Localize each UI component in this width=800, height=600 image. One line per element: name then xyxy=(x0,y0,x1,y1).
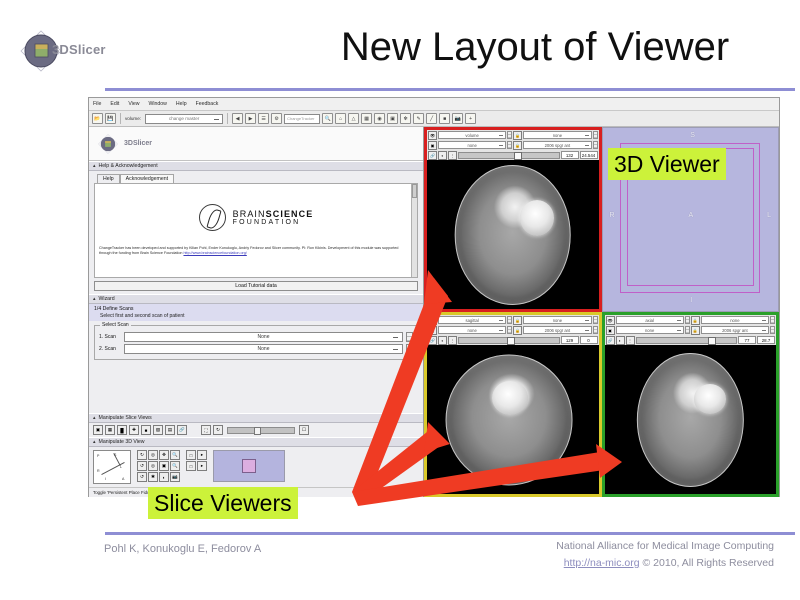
wizard-step-description: Select first and second scan of patient xyxy=(89,313,423,321)
menu-item-file[interactable]: File xyxy=(93,101,101,107)
green-axial-image[interactable] xyxy=(605,345,777,494)
green-control-row-2: ▣ none 🔒 2006 spgr ant xyxy=(605,325,777,335)
yellow-orientation-icon[interactable]: ⋮ xyxy=(448,336,457,345)
yellow-slice-slider[interactable] xyxy=(458,337,560,344)
compass-label-r: R xyxy=(97,469,100,473)
ruler-icon[interactable]: 🔍 xyxy=(170,461,180,471)
link-views-icon[interactable]: 🔗 xyxy=(177,425,187,435)
green-label-stepper-2[interactable] xyxy=(770,326,775,334)
layout-preview-thumbnail[interactable] xyxy=(213,450,285,482)
red-label-stepper-2[interactable] xyxy=(593,141,598,149)
brain-sagittal xyxy=(446,354,573,485)
scrollbar-thumb[interactable] xyxy=(412,184,417,198)
yellow-layer-lock2-icon[interactable]: 🔒 xyxy=(513,326,522,335)
slicer-small-logo-icon xyxy=(97,133,119,155)
tab-acknowledgement[interactable]: Acknowledgement xyxy=(120,174,174,183)
red-slice-index[interactable]: 132 xyxy=(561,151,579,159)
brain-coronal xyxy=(454,164,571,304)
footer-copyright: © 2010, All Rights Reserved xyxy=(643,557,774,569)
yellow-slider-knob[interactable] xyxy=(507,337,515,345)
green-background-select[interactable]: none xyxy=(616,326,684,334)
menu-item-help[interactable]: Help xyxy=(176,101,187,107)
main-toolbar: 📂 💾 volume: change master ◀ ▶ ☰ ⚙ Change… xyxy=(89,111,779,127)
yellow-label-stepper-1[interactable] xyxy=(593,316,598,324)
green-eye-icon[interactable]: ◐ xyxy=(616,336,625,345)
red-background-icon[interactable]: ▣ xyxy=(428,141,437,150)
models-module-icon[interactable]: ◉ xyxy=(374,113,385,124)
yellow-slice-index[interactable]: 129 xyxy=(561,336,579,344)
help-tabs: Help Acknowledgement xyxy=(89,171,423,183)
title-divider xyxy=(105,88,795,91)
toolbar-separator xyxy=(227,113,228,124)
yellow-bg-stepper[interactable] xyxy=(507,326,512,334)
yellow-control-row-1: 👁 sagittal 🔒 none xyxy=(427,315,599,325)
green-label-stepper-1[interactable] xyxy=(770,316,775,324)
bsf-subtitle: FOUNDATION xyxy=(233,219,314,226)
scan-1-label: 1. Scan xyxy=(99,334,121,340)
red-label-select-1[interactable]: none xyxy=(523,131,591,139)
next-module-icon[interactable]: ▶ xyxy=(245,113,256,124)
green-slice-viewer[interactable]: 👁 axial 🔒 none ▣ none 🔒 2006 xyxy=(602,312,780,497)
compare-layout-icon[interactable]: ▤ xyxy=(165,425,175,435)
manipulate-3d-view-header[interactable]: ▴ Manipulate 3D View xyxy=(89,437,423,447)
transforms-module-icon[interactable]: ▣ xyxy=(387,113,398,124)
label-visible-icon[interactable]: █ xyxy=(117,425,127,435)
manipulate-slice-views-title: Manipulate Slice Views xyxy=(99,415,152,421)
foreground-icon[interactable]: ■ xyxy=(141,425,151,435)
editor-module-icon[interactable]: ✎ xyxy=(413,113,424,124)
red-slider-knob[interactable] xyxy=(514,152,522,160)
bsf-name: BRAINSCIENCE xyxy=(233,209,314,219)
slider-knob[interactable] xyxy=(254,427,261,435)
red-background-select[interactable]: none xyxy=(438,141,506,149)
pick-icon[interactable]: 🔍 xyxy=(170,450,180,460)
green-background-icon[interactable]: ▣ xyxy=(606,326,615,335)
select-scan-legend: Select Scan xyxy=(100,322,131,328)
green-slider-knob[interactable] xyxy=(708,337,716,345)
red-layer-lock2-icon[interactable]: 🔒 xyxy=(513,141,522,150)
yellow-control-row-3: 🔗 ◐ ⋮ 129 0 xyxy=(427,335,599,345)
compass-label-i: I xyxy=(105,477,106,481)
volume-label: volume: xyxy=(125,116,141,121)
green-orientation-icon[interactable]: ⋮ xyxy=(626,336,635,345)
zoom-icon[interactable]: ◎ xyxy=(148,450,158,460)
red-label-stepper-1[interactable] xyxy=(593,131,598,139)
center-icon[interactable]: ◎ xyxy=(148,461,158,471)
green-layer-lock2-icon[interactable]: 🔒 xyxy=(691,326,700,335)
module-list-icon[interactable]: ☰ xyxy=(258,113,269,124)
menu-item-edit[interactable]: Edit xyxy=(110,101,119,107)
red-visibility-icon[interactable]: 👁 xyxy=(428,131,437,140)
green-control-row-3: 🔗 ◐ ⋮ 77 28.7 xyxy=(605,335,777,345)
wizard-section-title: Wizard xyxy=(99,296,115,302)
orientation-label-inferior: I xyxy=(690,297,692,304)
manipulate-3d-view-title: Manipulate 3D View xyxy=(99,439,145,445)
scan-1-stepper[interactable] xyxy=(406,332,413,342)
home-module-icon[interactable]: ⌂ xyxy=(335,113,346,124)
yellow-background-select[interactable]: none xyxy=(438,326,506,334)
yellow-control-row-2: ▣ none 🔒 2006 spgr ant xyxy=(427,325,599,335)
pan-icon[interactable]: ✥ xyxy=(159,450,169,460)
scan-2-select[interactable]: None xyxy=(124,344,403,354)
stereo-icon[interactable]: ◐ xyxy=(159,472,169,482)
find-module-icon[interactable]: 🔍 xyxy=(322,113,333,124)
slice-view-toolbar: ▣ ▦ █ ✚ ■ ▧ ▤ 🔗 ⛶ ↻ ☐ xyxy=(89,423,423,437)
fiducials-module-icon[interactable]: ✻ xyxy=(400,113,411,124)
save-scene-icon[interactable]: 💾 xyxy=(105,113,116,124)
red-layer-lock-icon[interactable]: 🔒 xyxy=(513,131,522,140)
tumor-region xyxy=(694,384,727,414)
viewer-row-top: 👁 volume 🔒 none ▣ none 🔒 200 xyxy=(424,127,779,312)
brain-science-foundation-logo: BRAINSCIENCE FOUNDATION xyxy=(95,184,417,231)
footer-url[interactable]: http://na-mic.org xyxy=(564,557,640,569)
scan-2-label: 2. Scan xyxy=(99,346,121,352)
scan-2-stepper[interactable] xyxy=(406,344,413,354)
extension-icon[interactable]: + xyxy=(465,113,476,124)
prev-module-icon[interactable]: ◀ xyxy=(232,113,243,124)
load-scene-icon[interactable]: 📂 xyxy=(92,113,103,124)
green-link-icon[interactable]: 🔗 xyxy=(606,336,615,345)
orientation-label-left: L xyxy=(767,212,771,219)
scan-row: 2. Scan None xyxy=(99,344,413,354)
green-bg-stepper[interactable] xyxy=(685,326,690,334)
red-foreground-select[interactable]: volume xyxy=(438,131,506,139)
brain-axial xyxy=(637,352,743,486)
module-settings-icon[interactable]: ⚙ xyxy=(271,113,282,124)
viewer-area: 👁 volume 🔒 none ▣ none 🔒 200 xyxy=(424,127,779,497)
green-slice-index[interactable]: 77 xyxy=(738,336,756,344)
yellow-foreground-select[interactable]: sagittal xyxy=(438,316,506,324)
orientation-compass[interactable]: P S R L I A xyxy=(93,450,131,484)
tab-help[interactable]: Help xyxy=(97,174,120,183)
collapse-caret-icon[interactable]: ▴ xyxy=(93,439,96,445)
acknowledgement-panel: BRAINSCIENCE FOUNDATION ChangeTracker ha… xyxy=(94,183,418,278)
yellow-fg-stepper[interactable] xyxy=(507,316,512,324)
compass-label-s: S xyxy=(114,453,116,457)
data-module-icon[interactable]: △ xyxy=(348,113,359,124)
measurements-module-icon[interactable]: ╱ xyxy=(426,113,437,124)
menu-item-window[interactable]: Window xyxy=(148,101,166,107)
footer-authors: Pohl K, Konukoglu E, Fedorov A xyxy=(104,543,261,555)
compass-label-l: L xyxy=(120,465,122,469)
yellow-link-icon[interactable]: 🔗 xyxy=(428,336,437,345)
wizard-section-header[interactable]: ▴ Wizard xyxy=(89,294,423,304)
collapse-caret-icon[interactable]: ▴ xyxy=(93,163,96,169)
yellow-visibility-icon[interactable]: 👁 xyxy=(428,316,437,325)
annotation-icon[interactable]: ☐ xyxy=(299,425,309,435)
green-control-row-1: 👁 axial 🔒 none xyxy=(605,315,777,325)
compass-label-a: A xyxy=(122,477,124,481)
tumor-region xyxy=(492,381,528,415)
bsf-link[interactable]: http://www.brainsciencefoundation.org/ xyxy=(183,251,246,255)
light-icon[interactable]: ✱ xyxy=(148,472,158,482)
red-slice-offset[interactable]: 24.544 xyxy=(580,151,598,159)
red-coronal-image[interactable] xyxy=(427,160,599,309)
help-section-header[interactable]: ▴ Help & Acknowledgement xyxy=(89,161,423,171)
red-slice-slider[interactable] xyxy=(458,152,560,159)
red-eye-icon[interactable]: ◐ xyxy=(438,151,447,160)
yellow-sagittal-image[interactable] xyxy=(427,345,599,494)
red-control-row-2: ▣ none 🔒 2006 spgr ant xyxy=(427,140,599,150)
select-icon[interactable]: ▸ xyxy=(197,450,207,460)
compass-label-p: P xyxy=(97,454,99,458)
annotation-slice-viewers: Slice Viewers xyxy=(148,487,298,519)
module-panel-brand: 3DSlicer xyxy=(89,127,423,161)
green-fg-stepper[interactable] xyxy=(685,316,690,324)
footer-organization: National Alliance for Medical Image Comp… xyxy=(556,538,774,555)
toolbar-separator xyxy=(120,113,121,124)
viewer-row-bottom: 👁 sagittal 🔒 none ▣ none 🔒 2 xyxy=(424,312,779,497)
label-map-icon[interactable]: ▧ xyxy=(153,425,163,435)
red-orientation-icon[interactable]: ⋮ xyxy=(448,151,457,160)
fg-bg-toggle-icon[interactable]: ▣ xyxy=(93,425,103,435)
module-panel: 3DSlicer ▴ Help & Acknowledgement Help A… xyxy=(89,127,424,497)
help-section-title: Help & Acknowledgement xyxy=(99,163,158,169)
yellow-eye-icon[interactable]: ◐ xyxy=(438,336,447,345)
slicer-logo-text: 3DSlicer xyxy=(52,42,106,57)
yellow-label-select-1[interactable]: none xyxy=(523,316,591,324)
yellow-label-stepper-2[interactable] xyxy=(593,326,598,334)
red-control-row-1: 👁 volume 🔒 none xyxy=(427,130,599,140)
camera-module-icon[interactable]: 📷 xyxy=(452,113,463,124)
tumor-region xyxy=(520,200,554,236)
yellow-layer-lock-icon[interactable]: 🔒 xyxy=(513,316,522,325)
module-search-input[interactable]: ChangeTracker xyxy=(284,114,320,124)
reset-icon[interactable]: ↺ xyxy=(137,461,147,471)
red-bg-stepper[interactable] xyxy=(507,141,512,149)
load-tutorial-button[interactable]: Load Tutorial data xyxy=(94,281,418,291)
spin-icon[interactable]: ↺ xyxy=(137,472,147,482)
yellow-slice-viewer[interactable]: 👁 sagittal 🔒 none ▣ none 🔒 2 xyxy=(424,312,602,497)
select-icon[interactable]: ▸ xyxy=(197,461,207,471)
screenshot-icon[interactable]: 📷 xyxy=(170,472,180,482)
volumes-module-icon[interactable]: ▦ xyxy=(361,113,372,124)
red-control-row-3: 🔗 ◐ ⋮ 132 24.544 xyxy=(427,150,599,160)
application-body: 3DSlicer ▴ Help & Acknowledgement Help A… xyxy=(89,127,779,497)
menu-item-view[interactable]: View xyxy=(128,101,139,107)
green-slice-slider[interactable] xyxy=(636,337,738,344)
menu-item-feedback[interactable]: Feedback xyxy=(196,101,219,107)
collapse-caret-icon[interactable]: ▴ xyxy=(93,296,96,302)
acknowledgement-scrollbar[interactable] xyxy=(411,184,417,277)
yellow-slice-controls: 👁 sagittal 🔒 none ▣ none 🔒 2 xyxy=(427,315,599,345)
red-slice-viewer[interactable]: 👁 volume 🔒 none ▣ none 🔒 200 xyxy=(424,127,602,312)
slice-opacity-slider[interactable] xyxy=(227,427,295,434)
axis-icon[interactable]: □ xyxy=(186,450,196,460)
red-link-icon[interactable]: 🔗 xyxy=(428,151,437,160)
crosshair-icon[interactable]: ✚ xyxy=(129,425,139,435)
view3d-extra-grid: □ ▸ □ ▸ xyxy=(186,450,207,471)
box-icon[interactable]: ▣ xyxy=(159,461,169,471)
green-foreground-select[interactable]: axial xyxy=(616,316,684,324)
layout-preview-square xyxy=(242,459,256,473)
green-label-select-1[interactable]: none xyxy=(701,316,769,324)
acknowledgement-text: ChangeTracker has been developed and sup… xyxy=(99,246,407,256)
green-label-select-2[interactable]: 2006 spgr ant xyxy=(701,326,769,334)
page-title: New Layout of Viewer xyxy=(300,22,770,72)
annotation-3d-viewer: 3D Viewer xyxy=(608,148,726,180)
orientation-label-superior: S xyxy=(690,132,695,139)
bsf-ring-icon xyxy=(199,204,226,231)
yellow-background-icon[interactable]: ▣ xyxy=(428,326,437,335)
view3d-controls: P S R L I A ↻ ◎ ✥ 🔍 ↺ ◎ ▣ 🔍 ↺ xyxy=(89,447,423,487)
green-layer-lock-icon[interactable]: 🔒 xyxy=(691,316,700,325)
rotate-to-volume-icon[interactable]: ↻ xyxy=(213,425,223,435)
slicer-logo: 3DSlicer xyxy=(18,28,138,74)
footer-divider xyxy=(105,532,795,535)
orientation-label-right: R xyxy=(610,212,615,219)
menu-bar: File Edit View Window Help Feedback xyxy=(89,98,779,111)
scan-1-select[interactable]: None xyxy=(124,332,403,342)
scan-row: 1. Scan None xyxy=(99,332,413,342)
collapse-caret-icon[interactable]: ▴ xyxy=(93,415,96,421)
green-slice-controls: 👁 axial 🔒 none ▣ none 🔒 2006 xyxy=(605,315,777,345)
wizard-step-title: 1/4 Define Scans xyxy=(89,304,423,313)
manipulate-slice-views-header[interactable]: ▴ Manipulate Slice Views xyxy=(89,413,423,423)
orientation-label-anterior: A xyxy=(688,212,693,219)
label-outline-icon[interactable]: ▦ xyxy=(105,425,115,435)
yellow-label-select-2[interactable]: 2006 spgr ant xyxy=(523,326,591,334)
module-panel-brand-text: 3DSlicer xyxy=(124,140,152,147)
view3d-button-grid: ↻ ◎ ✥ 🔍 ↺ ◎ ▣ 🔍 ↺ ✱ ◐ 📷 xyxy=(137,450,180,482)
colors-module-icon[interactable]: ■ xyxy=(439,113,450,124)
yellow-slice-offset[interactable]: 0 xyxy=(580,336,598,344)
green-visibility-icon[interactable]: 👁 xyxy=(606,316,615,325)
fit-to-window-icon[interactable]: ⛶ xyxy=(201,425,211,435)
rotate-icon[interactable]: ↻ xyxy=(137,450,147,460)
green-slice-offset[interactable]: 28.7 xyxy=(757,336,775,344)
red-slice-controls: 👁 volume 🔒 none ▣ none 🔒 200 xyxy=(427,130,599,160)
panel-spacer xyxy=(89,364,423,413)
footer-attribution: National Alliance for Medical Image Comp… xyxy=(556,538,774,572)
axis-icon[interactable]: □ xyxy=(186,461,196,471)
select-scan-group: Select Scan 1. Scan None 2. Scan None xyxy=(94,325,418,360)
red-label-select-2[interactable]: 2006 spgr ant xyxy=(523,141,591,149)
volume-select[interactable]: change master xyxy=(145,114,223,124)
red-fg-stepper[interactable] xyxy=(507,131,512,139)
